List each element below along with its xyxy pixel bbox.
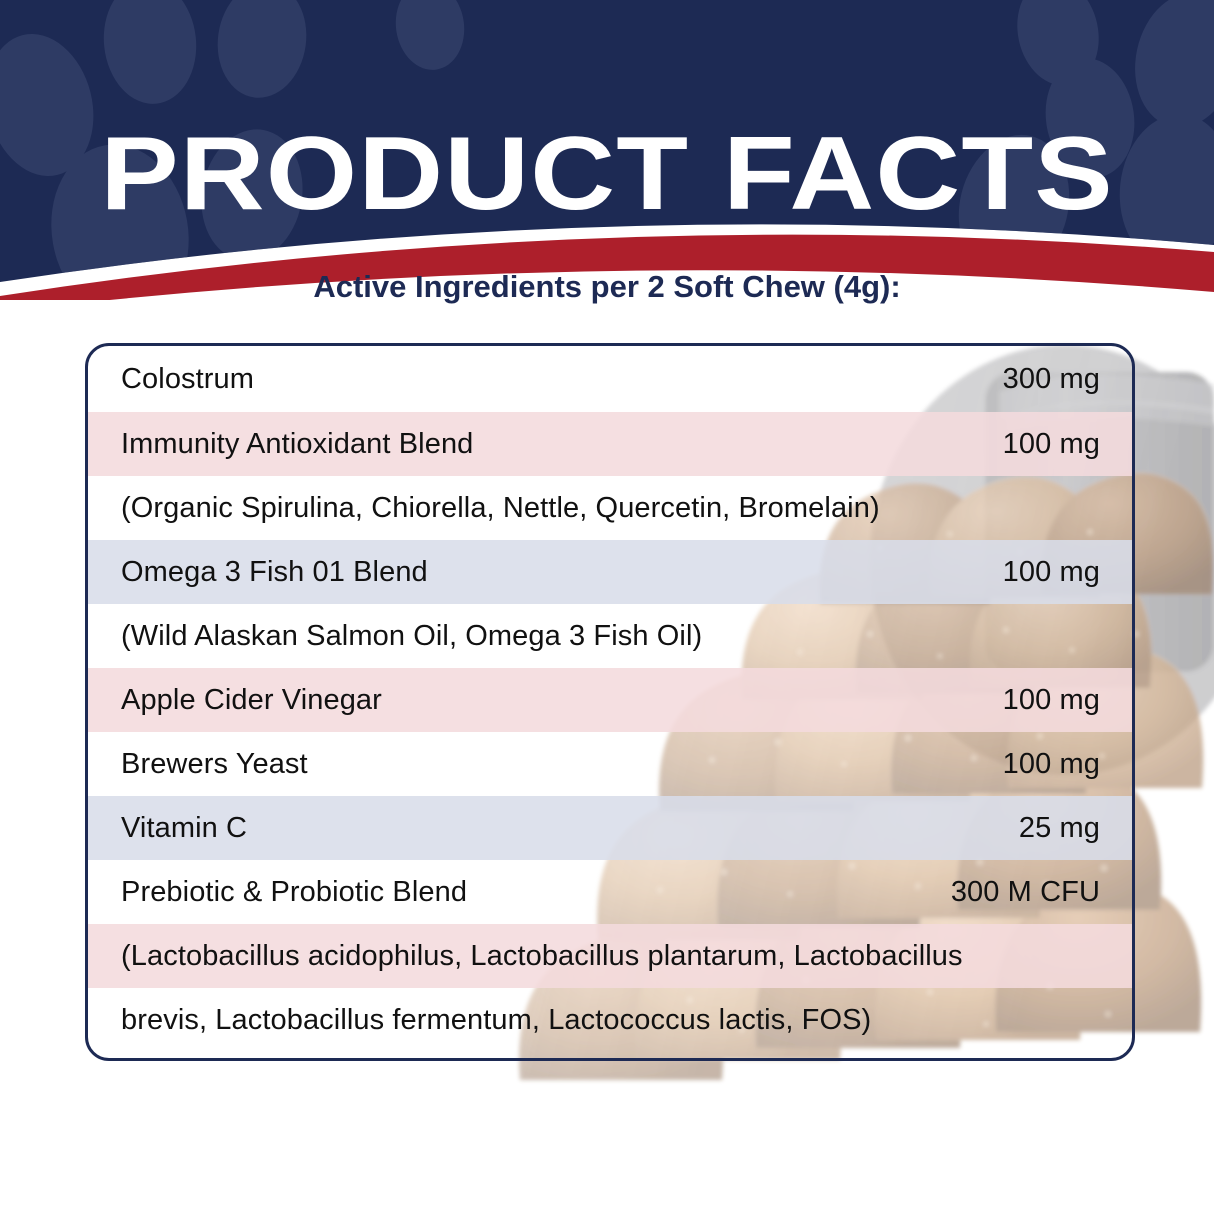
table-row: (Lactobacillus acidophilus, Lactobacillu…: [88, 924, 1132, 988]
table-row: Prebiotic & Probiotic Blend300 M CFU: [88, 860, 1132, 924]
ingredient-name: brevis, Lactobacillus fermentum, Lactoco…: [121, 1004, 1100, 1037]
table-row: Colostrum300 mg: [88, 346, 1132, 412]
ingredient-name: (Wild Alaskan Salmon Oil, Omega 3 Fish O…: [121, 620, 1100, 653]
page-title: PRODUCT FACTS: [0, 122, 1214, 226]
ingredient-amount: 25 mg: [1019, 812, 1100, 845]
ingredient-amount: 300 mg: [1003, 363, 1100, 396]
ingredient-name: Colostrum: [121, 363, 1003, 396]
ingredient-name: Prebiotic & Probiotic Blend: [121, 876, 951, 909]
ingredient-name: Brewers Yeast: [121, 748, 1003, 781]
table-row: Brewers Yeast100 mg: [88, 732, 1132, 796]
table-row: (Wild Alaskan Salmon Oil, Omega 3 Fish O…: [88, 604, 1132, 668]
table-row: Omega 3 Fish 01 Blend100 mg: [88, 540, 1132, 604]
ingredients-table: Colostrum300 mgImmunity Antioxidant Blen…: [85, 343, 1135, 1061]
ingredient-name: Vitamin C: [121, 812, 1019, 845]
ingredient-amount: 100 mg: [1003, 428, 1100, 461]
ingredient-amount: 100 mg: [1003, 684, 1100, 717]
table-row: Immunity Antioxidant Blend100 mg: [88, 412, 1132, 476]
ingredient-amount: 100 mg: [1003, 748, 1100, 781]
table-row: (Organic Spirulina, Chiorella, Nettle, Q…: [88, 476, 1132, 540]
ingredient-name: Apple Cider Vinegar: [121, 684, 1003, 717]
table-row: brevis, Lactobacillus fermentum, Lactoco…: [88, 988, 1132, 1052]
table-row: Vitamin C25 mg: [88, 796, 1132, 860]
ingredient-name: (Lactobacillus acidophilus, Lactobacillu…: [121, 940, 1100, 973]
ingredient-amount: 100 mg: [1003, 556, 1100, 589]
ingredients-subtitle: Active Ingredients per 2 Soft Chew (4g):: [0, 268, 1214, 306]
ingredient-name: (Organic Spirulina, Chiorella, Nettle, Q…: [121, 492, 1100, 525]
table-row: Apple Cider Vinegar100 mg: [88, 668, 1132, 732]
ingredient-amount: 300 M CFU: [951, 876, 1100, 909]
ingredient-name: Omega 3 Fish 01 Blend: [121, 556, 1003, 589]
ingredient-name: Immunity Antioxidant Blend: [121, 428, 1003, 461]
